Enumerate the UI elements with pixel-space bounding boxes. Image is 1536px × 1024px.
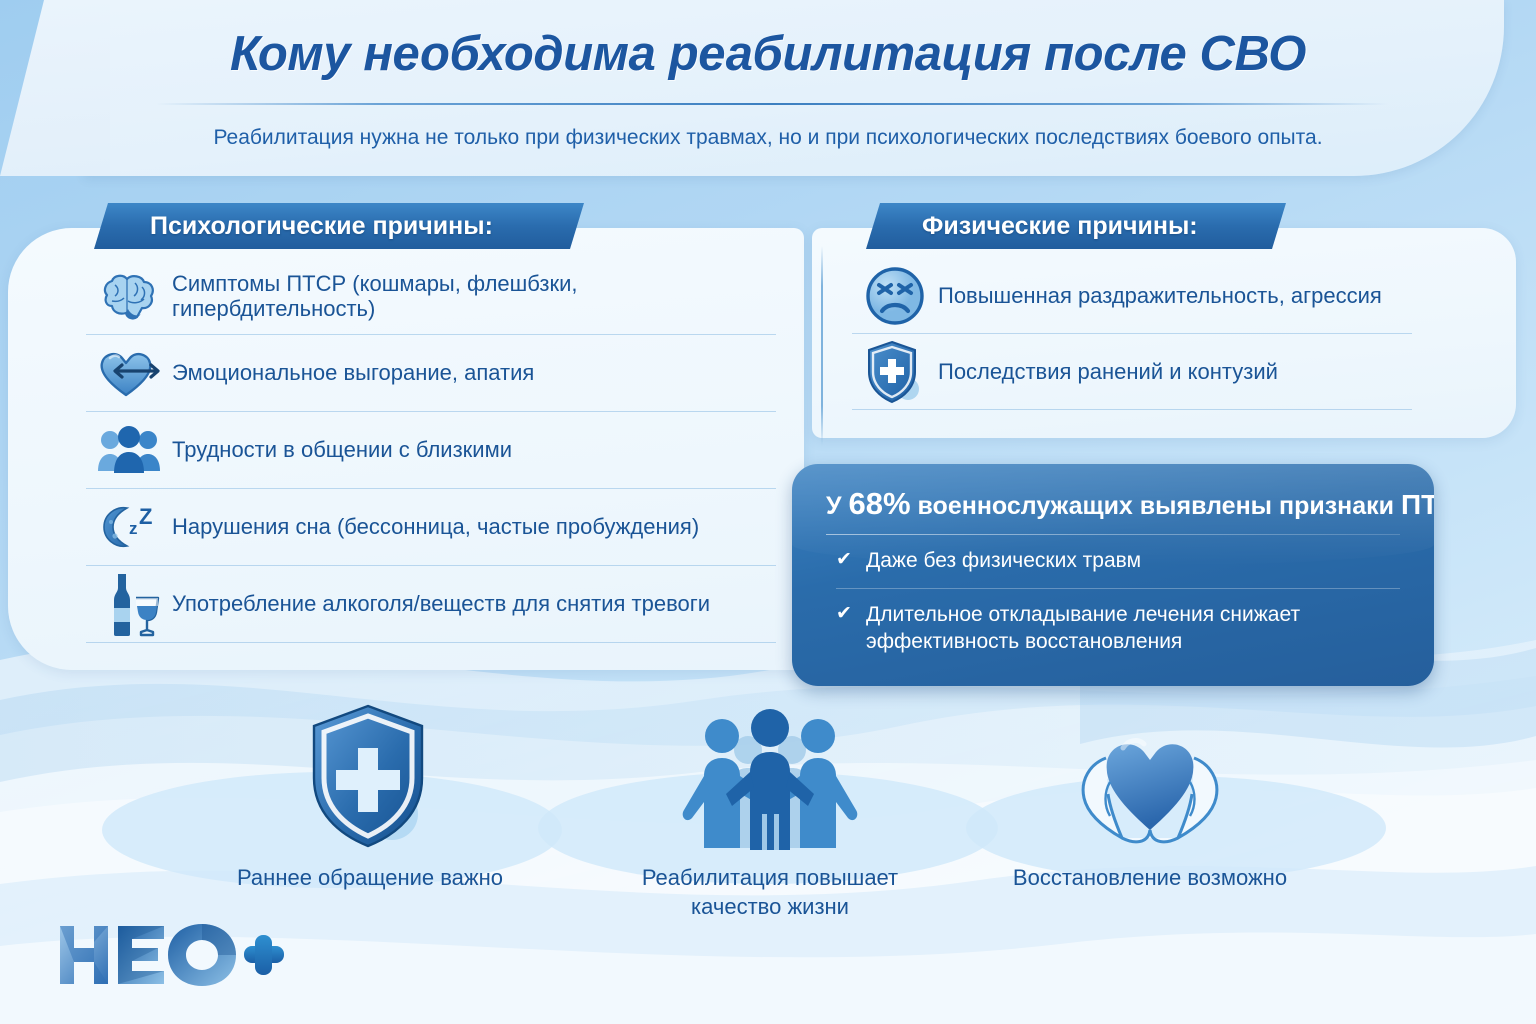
moon-sleep-icon: z Z [86,492,172,562]
psychological-banner-label: Психологические причины: [94,212,493,241]
people-support-icon [600,700,940,850]
list-item[interactable]: Употребление алкоголя/веществ для снятия… [86,566,776,643]
physical-banner-label: Физические причины: [866,212,1198,241]
svg-text:Z: Z [139,504,152,529]
psychological-list: Симптомы ПТСР (кошмары, флешбзки, гиперб… [86,258,776,643]
feature-early-help: Раннее обращение важно [220,700,520,893]
list-item[interactable]: Последствия ранений и контузий [852,334,1412,410]
list-item-label: Нарушения сна (бессонница, частые пробуж… [172,514,699,539]
stat-prefix: У [826,492,842,520]
feature-caption: Реабилитация повышает качество жизни [600,864,940,921]
psychological-banner: Психологические причины: [94,203,584,249]
stat-divider [826,534,1400,535]
infographic-root: Кому необходима реабилитация после СВО Р… [0,0,1536,1024]
list-item-label: Эмоциональное выгорание, апатия [172,360,534,385]
stat-percent: 68% [849,486,911,521]
list-item[interactable]: Эмоциональное выгорание, апатия [86,335,776,412]
stat-headline-mid: военнослужащих выявлены признаки [918,492,1395,520]
list-item[interactable]: Повышенная раздражительность, агрессия [852,258,1412,334]
list-item-label: Повышенная раздражительность, агрессия [938,283,1382,308]
svg-text:z: z [129,519,138,538]
list-item[interactable]: z Z Нарушения сна (бессонница, частые пр… [86,489,776,566]
people-group-icon [86,415,172,485]
feature-quality-of-life: Реабилитация повышает качество жизни [600,700,940,921]
list-item[interactable]: Симптомы ПТСР (кошмары, флешбзки, гиперб… [86,258,776,335]
angry-face-icon [852,261,938,331]
list-item-label: Симптомы ПТСР (кошмары, флешбзки, гиперб… [172,271,776,322]
list-item-label: Последствия ранений и контузий [938,359,1278,384]
hands-heart-icon [1000,700,1300,850]
stat-list-item: ✔ Даже без физических травм [836,548,1400,575]
stat-list-item-label: Даже без физических травм [866,548,1141,575]
list-item-label: Трудности в общении с близкими [172,437,512,462]
list-item[interactable]: Трудности в общении с близкими [86,412,776,489]
title-divider [156,103,1388,105]
list-item-label: Употребление алкоголя/веществ для снятия… [172,591,710,616]
page-subtitle: Реабилитация нужна не только при физичес… [0,126,1536,150]
stat-list-item: ✔ Длительное откладывание лечения снижае… [836,588,1400,656]
check-icon: ✔ [836,548,866,575]
stat-list-item-label: Длительное откладывание лечения снижает … [866,602,1400,656]
bottle-glass-icon [86,569,172,639]
stat-panel: У 68% военнослужащих выявлены признаки П… [792,464,1434,686]
page-title: Кому необходима реабилитация после СВО [0,26,1536,82]
shield-cross-icon [852,337,938,407]
feature-caption: Восстановление возможно [1000,864,1300,893]
check-icon: ✔ [836,602,866,656]
physical-banner: Физические причины: [866,203,1286,249]
feature-recovery-possible: Восстановление возможно [1000,700,1300,893]
brain-icon [86,261,172,331]
stat-headline: У 68% военнослужащих выявлены признаки П… [826,486,1404,522]
feature-caption: Раннее обращение важно [220,864,520,893]
heart-arrow-icon [86,338,172,408]
brand-logo[interactable] [56,920,286,995]
feature-row: Раннее обращение важно [0,700,1536,940]
column-divider [821,246,823,446]
shield-cross-large-icon [220,700,520,850]
stat-tag: ПТСР [1401,489,1434,520]
physical-list: Повышенная раздражительность, агрессия П… [852,258,1412,410]
